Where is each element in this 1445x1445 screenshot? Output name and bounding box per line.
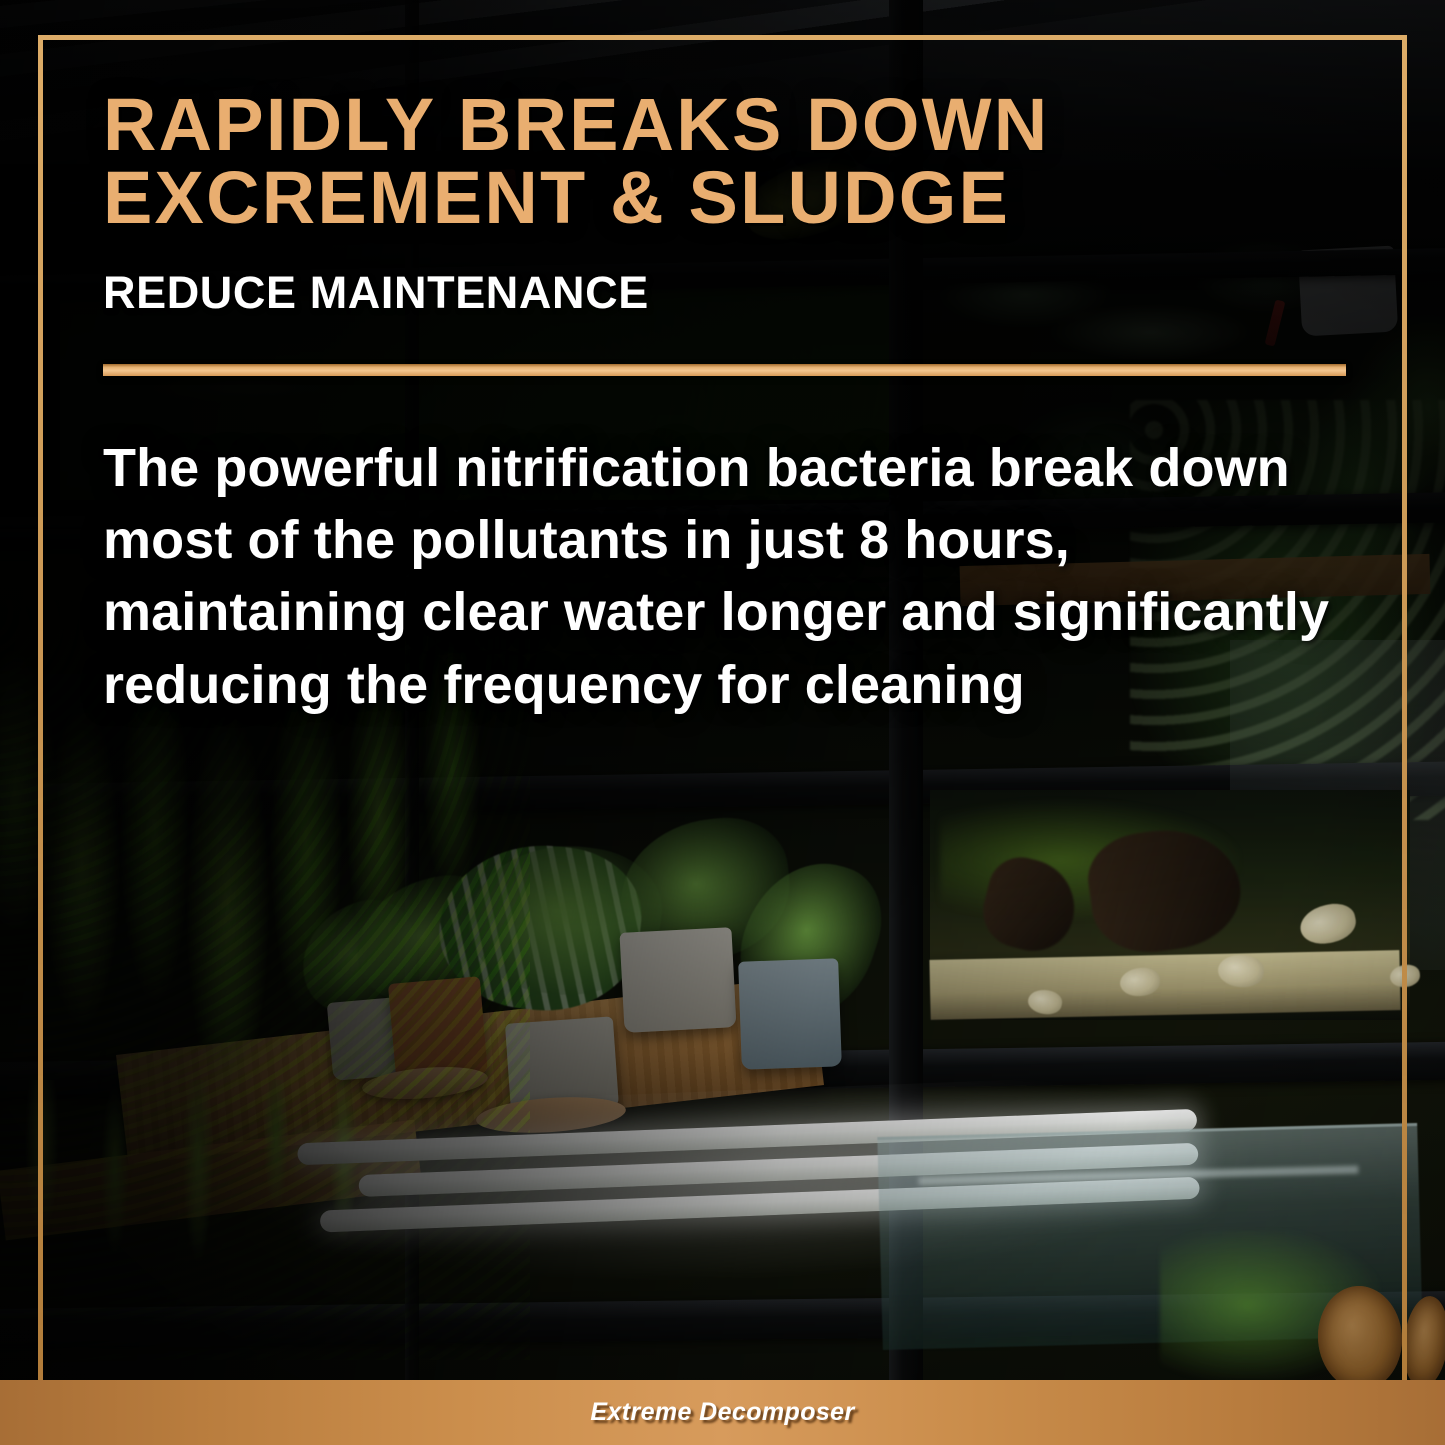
subheading: REDUCE MAINTENANCE bbox=[103, 269, 1348, 316]
page-title: RAPIDLY BREAKS DOWN EXCREMENT & SLUDGE bbox=[103, 88, 1348, 235]
product-feature-poster: RAPIDLY BREAKS DOWN EXCREMENT & SLUDGE R… bbox=[0, 0, 1445, 1445]
poster-content: RAPIDLY BREAKS DOWN EXCREMENT & SLUDGE R… bbox=[103, 88, 1348, 721]
brand-name: Extreme Decomposer bbox=[590, 1398, 854, 1427]
gold-divider-rule bbox=[103, 364, 1346, 376]
body-description: The powerful nitrification bacteria brea… bbox=[103, 432, 1333, 721]
footer-brand-bar: Extreme Decomposer bbox=[0, 1380, 1445, 1445]
